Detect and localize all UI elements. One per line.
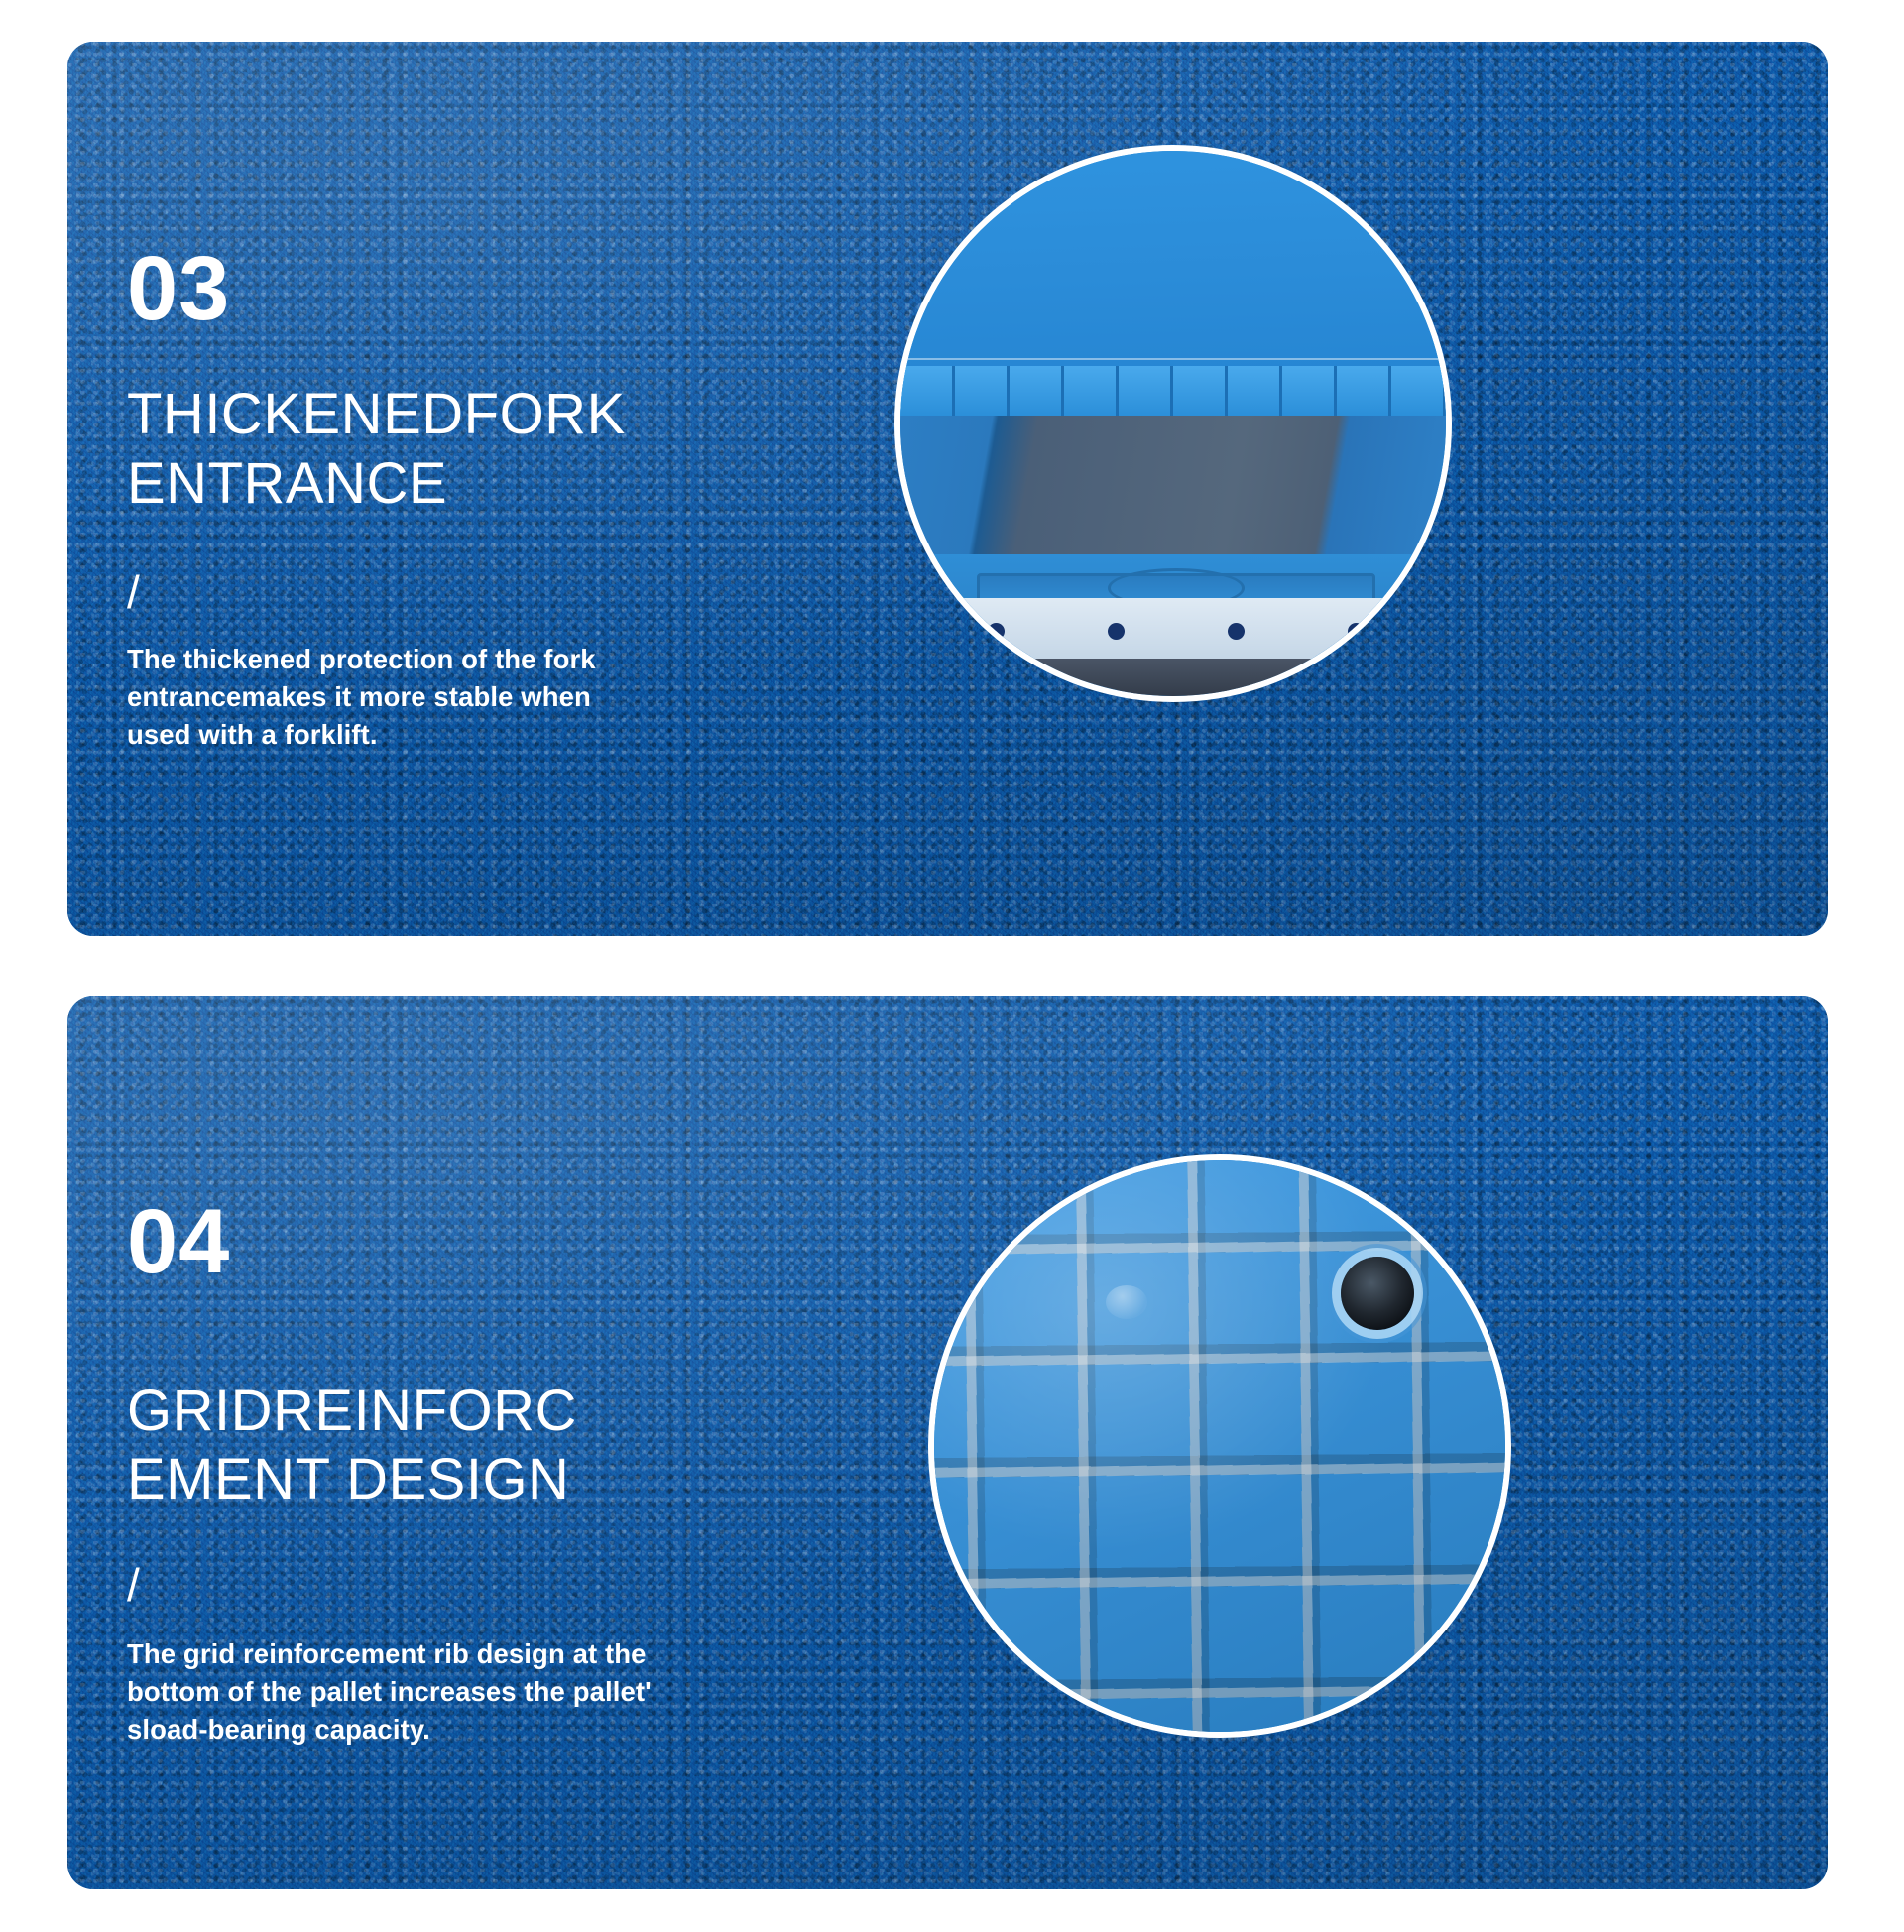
feature-cards-page: 03 THICKENEDFORK ENTRANCE / The thickene… bbox=[0, 0, 1904, 1932]
pallet-deck-edge bbox=[900, 358, 1446, 360]
card-04-headline: GRIDREINFORC EMENT DESIGN bbox=[127, 1377, 652, 1514]
card-04-divider: / bbox=[127, 1562, 652, 1608]
plastic-sheen bbox=[934, 1160, 1505, 1732]
pallet-rib-band bbox=[900, 366, 1446, 416]
card-03-photo-circle bbox=[894, 145, 1452, 702]
feature-card-04: 04 GRIDREINFORC EMENT DESIGN / The grid … bbox=[67, 996, 1828, 1890]
card-03-number: 03 bbox=[127, 243, 626, 334]
pallet-base-strip bbox=[900, 598, 1446, 664]
card-04-photo-circle bbox=[928, 1154, 1511, 1738]
card-03-copy: 03 THICKENEDFORK ENTRANCE / The thickene… bbox=[67, 42, 626, 936]
floor-shadow bbox=[900, 659, 1446, 697]
rubber-foot-insert bbox=[1341, 1257, 1414, 1330]
pallet-deck-surface bbox=[900, 151, 1446, 369]
fork-entrance-photo bbox=[900, 151, 1446, 696]
card-04-body: The grid reinforcement rib design at the… bbox=[127, 1635, 652, 1749]
card-03-headline: THICKENEDFORK ENTRANCE bbox=[127, 380, 626, 518]
molding-bump bbox=[1106, 1285, 1147, 1319]
grid-reinforcement-photo bbox=[934, 1160, 1505, 1732]
card-04-number: 04 bbox=[127, 1196, 652, 1287]
card-04-copy: 04 GRIDREINFORC EMENT DESIGN / The grid … bbox=[67, 996, 652, 1890]
card-03-divider: / bbox=[127, 569, 626, 615]
card-03-body: The thickened protection of the fork ent… bbox=[127, 641, 626, 754]
feature-card-03: 03 THICKENEDFORK ENTRANCE / The thickene… bbox=[67, 42, 1828, 936]
